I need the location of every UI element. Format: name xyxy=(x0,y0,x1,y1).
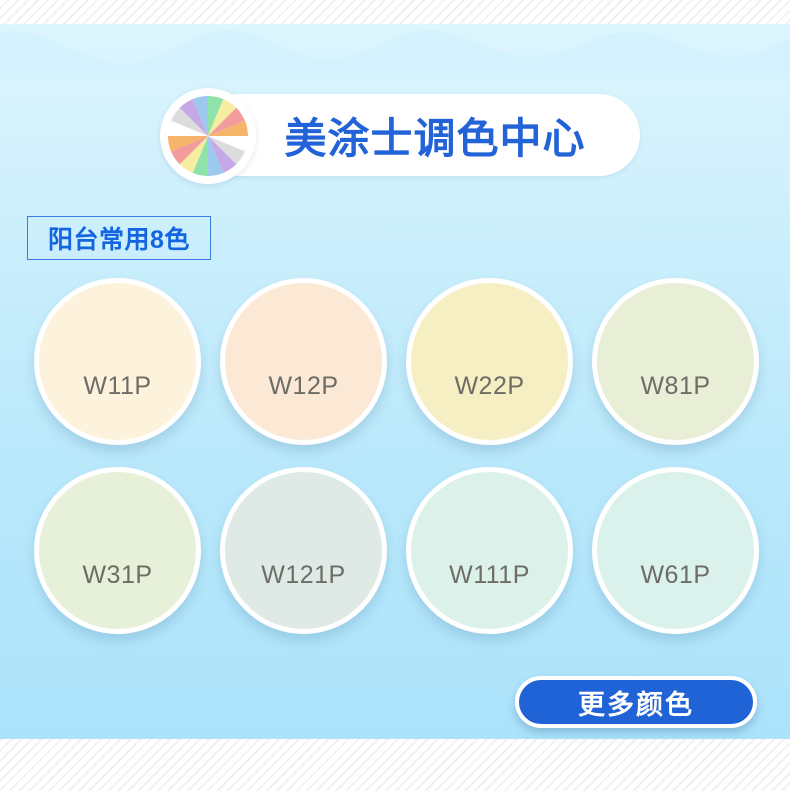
swatch-w121p[interactable]: W121P xyxy=(220,467,387,634)
page-root: 美涂士调色中心 阳台常用8色 W11P W12P W22P W81P W31P … xyxy=(0,0,790,791)
header: 美涂士调色中心 xyxy=(160,88,640,184)
section-badge: 阳台常用8色 xyxy=(27,216,211,260)
swatch-w81p[interactable]: W81P xyxy=(592,278,759,445)
swatch-label: W12P xyxy=(225,374,382,399)
swatch-w111p[interactable]: W111P xyxy=(406,467,573,634)
swatch-label: W22P xyxy=(411,374,568,399)
swatch-label: W111P xyxy=(411,563,568,588)
swatch-w22p[interactable]: W22P xyxy=(406,278,573,445)
swatch-w12p[interactable]: W12P xyxy=(220,278,387,445)
more-colors-button[interactable]: 更多颜色 xyxy=(515,676,757,728)
page-title: 美涂士调色中心 xyxy=(270,94,600,176)
swatch-label: W61P xyxy=(597,563,754,588)
color-wheel-icon xyxy=(160,88,256,184)
swatch-row-1: W11P W12P W22P W81P xyxy=(34,278,764,445)
swatch-label: W81P xyxy=(597,374,754,399)
swatch-label: W121P xyxy=(225,563,382,588)
swatch-label: W31P xyxy=(39,563,196,588)
wave-divider-top xyxy=(0,18,790,78)
swatch-w61p[interactable]: W61P xyxy=(592,467,759,634)
swatch-row-2: W31P W121P W111P W61P xyxy=(34,467,764,634)
swatch-grid: W11P W12P W22P W81P W31P W121P W111P xyxy=(34,278,764,656)
swatch-w31p[interactable]: W31P xyxy=(34,467,201,634)
swatch-label: W11P xyxy=(39,374,196,399)
swatch-w11p[interactable]: W11P xyxy=(34,278,201,445)
